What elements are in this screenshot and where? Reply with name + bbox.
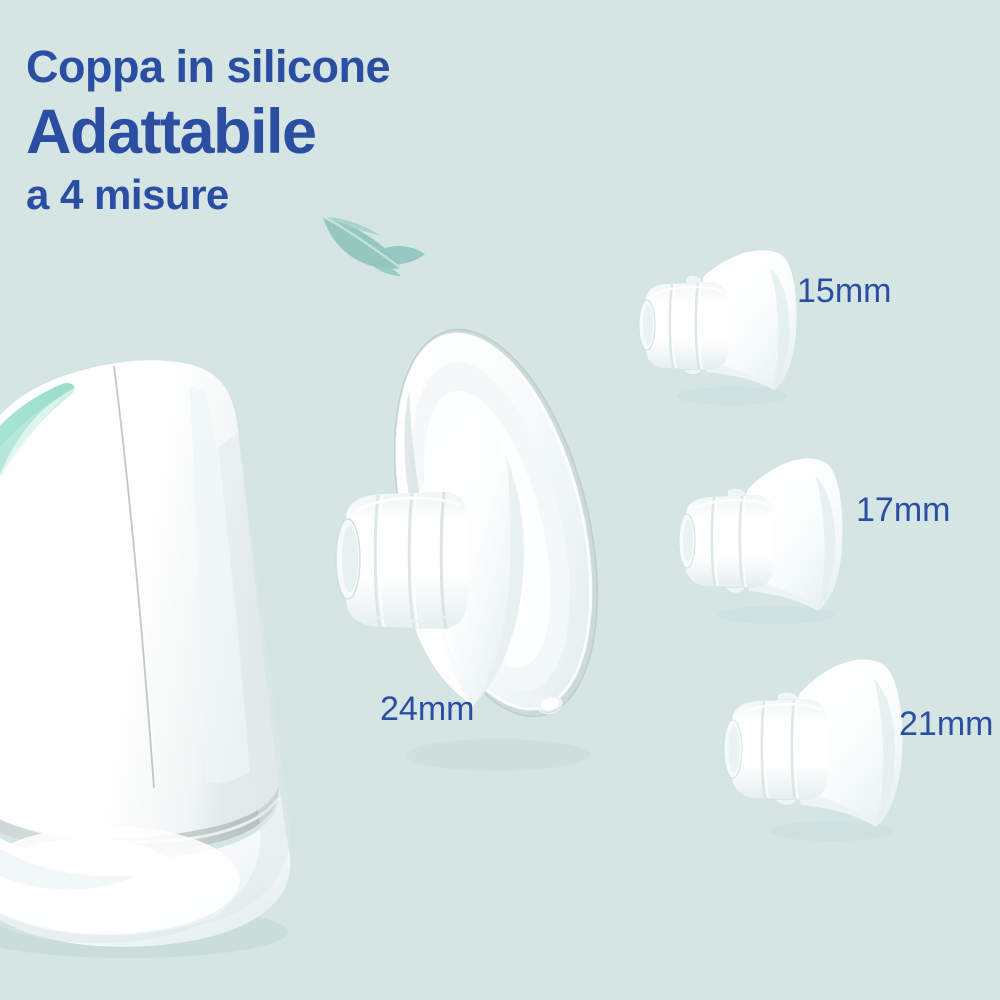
insert-15mm [628,232,806,408]
breast-pump-body [0,352,320,960]
headline-line-2: Adattabile [26,101,390,164]
size-label-17mm: 17mm [856,491,950,530]
headline-line-3: a 4 misure [26,174,390,216]
size-label-15mm: 15mm [797,272,891,311]
headline-block: Coppa in silicone Adattabile a 4 misure [26,44,390,216]
flange-24mm [330,305,630,795]
insert-21mm [716,645,914,845]
headline-line-1: Coppa in silicone [26,44,390,89]
product-feature-image: Coppa in silicone Adattabile a 4 misure [0,0,1000,1000]
size-label-24mm: 24mm [380,690,474,729]
size-label-21mm: 21mm [899,705,993,744]
insert-17mm [668,443,854,629]
